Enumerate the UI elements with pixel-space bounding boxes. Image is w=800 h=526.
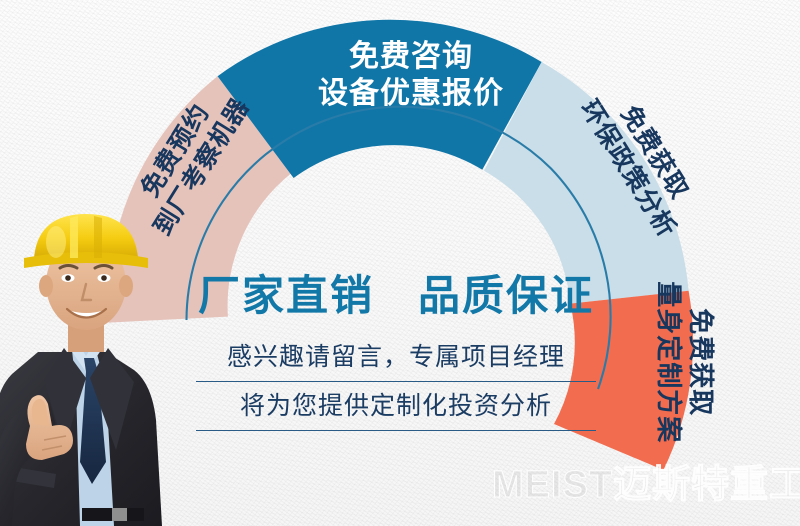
right-ear <box>119 275 133 297</box>
left-pupil <box>65 275 71 281</box>
belt-buckle <box>112 508 127 521</box>
left-ear <box>39 275 53 297</box>
hard-hat-ridge-1 <box>70 216 78 258</box>
promotional-banner: 免费咨询 设备优惠报价 免费预约 到厂考察机器 免费获取 环保政策分析 免费获取… <box>0 0 800 526</box>
right-pupil <box>101 275 107 281</box>
center-message-block: 厂家直销 品质保证 感兴趣请留言，专属项目经理 将为您提供定制化投资分析 <box>196 272 596 431</box>
businessman-photo <box>0 212 204 526</box>
headline: 厂家直销 品质保证 <box>196 272 596 319</box>
subtext-line-1: 感兴趣请留言，专属项目经理 <box>196 333 596 382</box>
businessman-illustration <box>0 212 204 526</box>
hard-hat-ridge-2 <box>94 216 102 258</box>
subtext-line-2: 将为您提供定制化投资分析 <box>196 382 596 431</box>
hard-hat-highlight <box>46 226 66 258</box>
